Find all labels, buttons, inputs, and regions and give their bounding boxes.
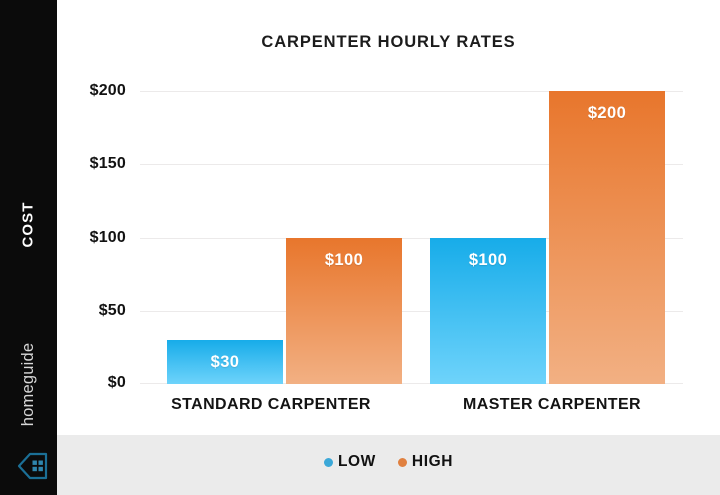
legend-band: LOW HIGH (57, 435, 720, 495)
legend-item-high[interactable]: HIGH (398, 453, 453, 471)
x-category-label-standard: STANDARD CARPENTER (140, 396, 402, 414)
legend-dot-low-icon (324, 458, 333, 467)
homeguide-tag-icon (17, 451, 49, 481)
chart-title: CARPENTER HOURLY RATES (57, 33, 720, 52)
x-category-label-master: MASTER CARPENTER (421, 396, 683, 414)
y-axis-title: COST (20, 179, 37, 271)
plot-area: $200 $150 $100 $50 $0 $30 $100 (140, 91, 683, 384)
bar-standard-high[interactable]: $100 (286, 238, 402, 385)
y-tick-label-0: $0 (108, 374, 126, 392)
sidebar: COST homeguide (0, 0, 57, 495)
legend-label-low: LOW (338, 453, 376, 471)
legend: LOW HIGH (57, 453, 720, 471)
chart-panel: CARPENTER HOURLY RATES $200 $150 $100 $5… (57, 0, 720, 495)
bar-standard-low[interactable]: $30 (167, 340, 283, 384)
bar-value-standard-low: $30 (167, 353, 283, 372)
y-tick-label-200: $200 (90, 82, 126, 100)
bar-value-standard-high: $100 (286, 251, 402, 270)
y-tick-label-50: $50 (99, 302, 126, 320)
chart-screenshot: COST homeguide CARPENTER HOURLY RATES $2… (0, 0, 720, 495)
legend-item-low[interactable]: LOW (324, 453, 376, 471)
y-tick-label-100: $100 (90, 229, 126, 247)
legend-label-high: HIGH (412, 453, 453, 471)
bar-value-master-high: $200 (549, 104, 665, 123)
legend-dot-high-icon (398, 458, 407, 467)
bar-value-master-low: $100 (430, 251, 546, 270)
bar-master-high[interactable]: $200 (549, 91, 665, 384)
bar-master-low[interactable]: $100 (430, 238, 546, 385)
brand-name: homeguide (19, 332, 38, 437)
y-tick-label-150: $150 (90, 155, 126, 173)
